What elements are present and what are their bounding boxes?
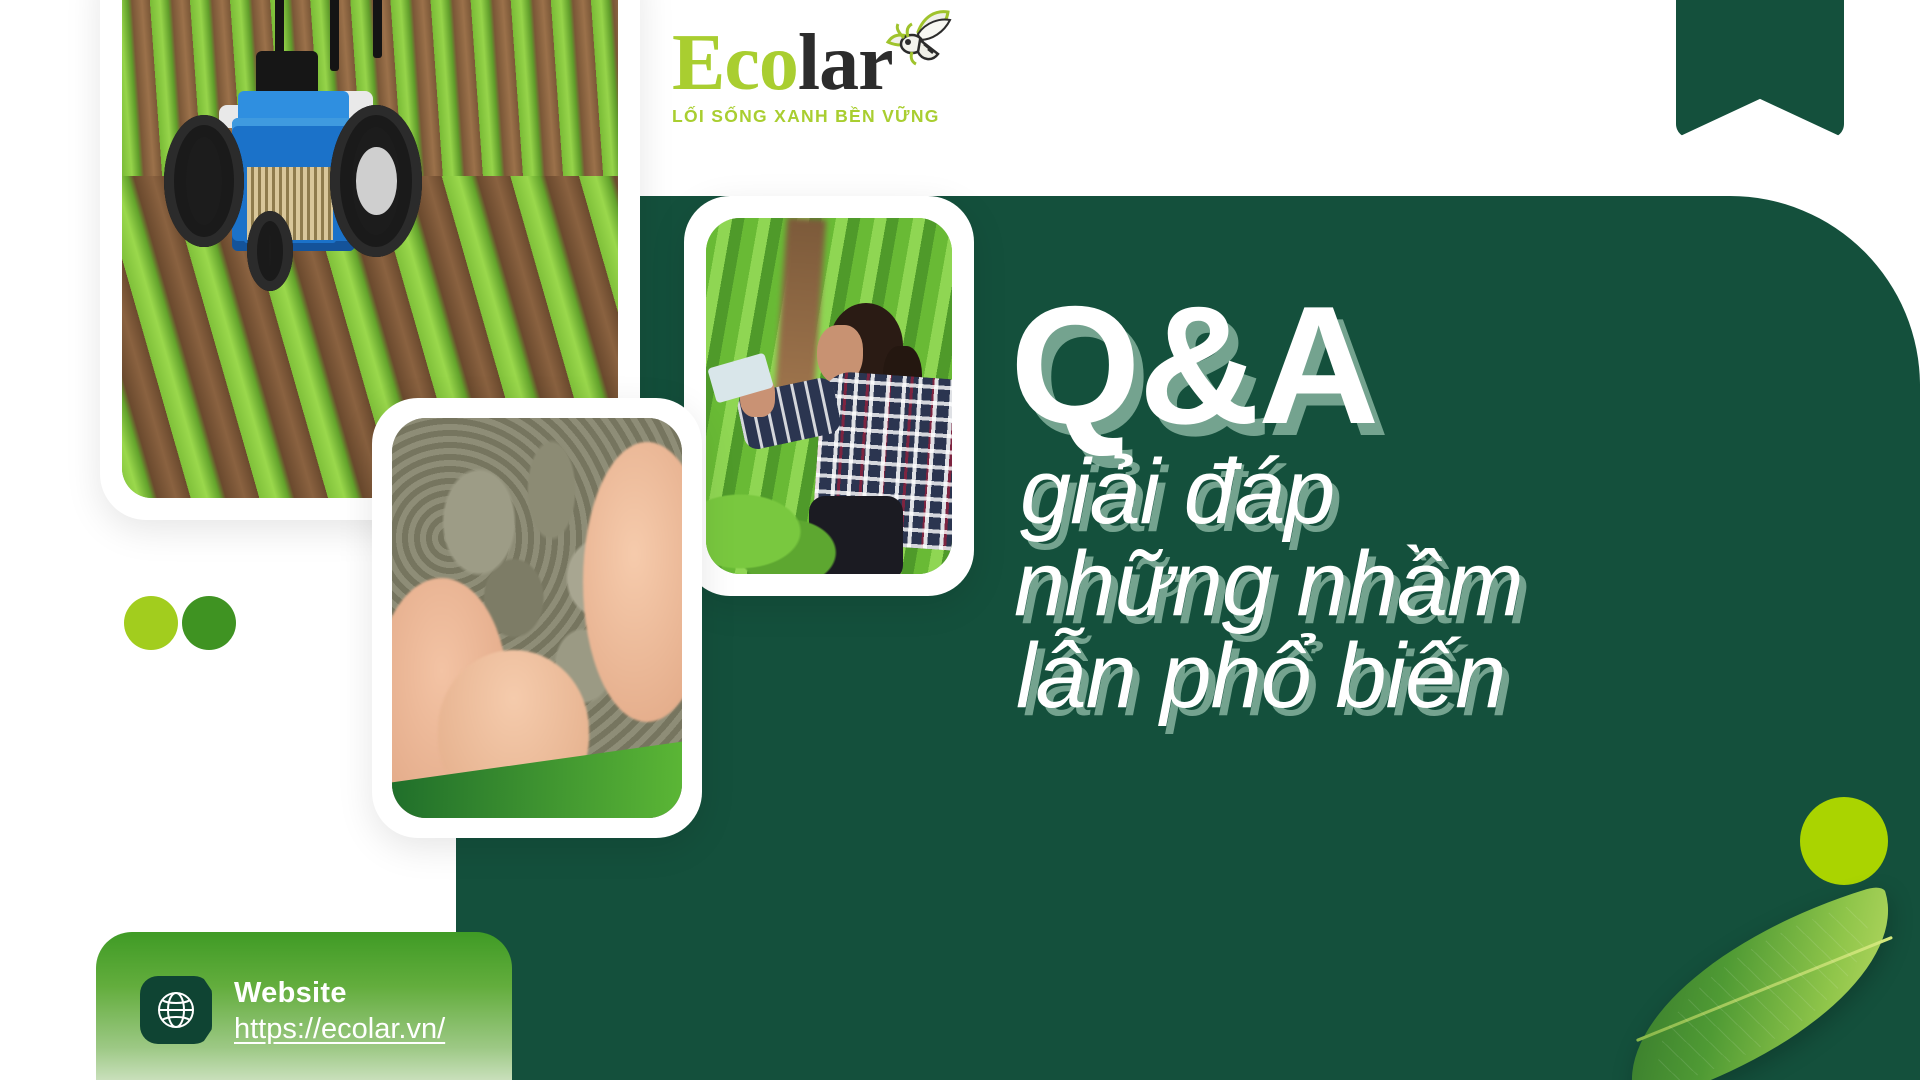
- dot-big-lime-icon: [1800, 797, 1888, 885]
- subtitle-line-1: giải đáp: [1020, 446, 1890, 538]
- logo-word-lar: lar: [798, 19, 893, 107]
- photo-compost: [392, 418, 682, 818]
- page-title: Q&A: [1010, 290, 1890, 440]
- subtitle-line-3: lẫn phổ biến: [1016, 630, 1890, 722]
- headline-block: Q&A giải đáp những nhầm lẫn phổ biến: [1010, 290, 1890, 722]
- website-url[interactable]: https://ecolar.vn/: [234, 1010, 445, 1048]
- photo-card-farmer: [684, 196, 974, 596]
- dot-green-icon: [182, 596, 236, 650]
- photo-card-compost: [372, 398, 702, 838]
- website-card[interactable]: Website https://ecolar.vn/: [96, 932, 512, 1080]
- website-text: Website https://ecolar.vn/: [234, 976, 445, 1048]
- ribbon-shape: [1676, 0, 1844, 138]
- logo-tagline: LỐI SỐNG XANH BỀN VỮNG: [672, 106, 972, 127]
- photo-farmer: [706, 218, 952, 574]
- subtitle-line-2: những nhầm: [1014, 538, 1890, 630]
- logo-word-eco: Eco: [672, 19, 798, 107]
- poster-canvas: Ecolar LỐI SỐNG XANH BỀN VỮNG Q&A giải đ…: [0, 0, 1920, 1080]
- bee-icon: [884, 8, 954, 70]
- dot-lime-icon: [124, 596, 178, 650]
- brand-logo: Ecolar LỐI SỐNG XANH BỀN VỮNG: [672, 22, 972, 162]
- globe-icon: [140, 976, 212, 1044]
- website-label: Website: [234, 976, 445, 1010]
- page-subtitle: giải đáp những nhầm lẫn phổ biến: [1010, 446, 1890, 722]
